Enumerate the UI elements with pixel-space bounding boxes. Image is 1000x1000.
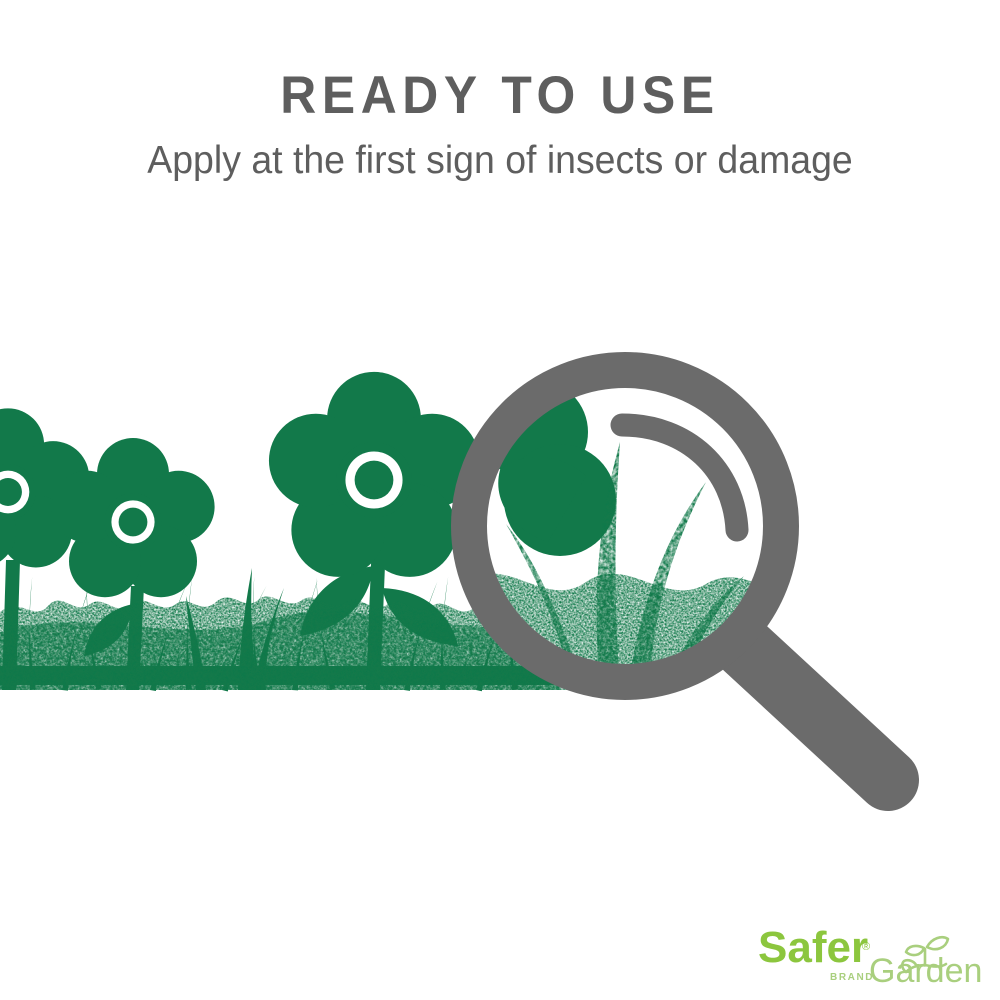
logo-brand-line: BRAND <box>830 972 874 983</box>
grass-speckle-fringe <box>0 611 560 690</box>
flower-group <box>0 372 479 597</box>
logo-wordmark: Safer <box>758 923 868 972</box>
magnified-turf <box>469 574 781 690</box>
grass-baseline <box>0 666 562 685</box>
flower-stems <box>2 540 458 690</box>
grass-band <box>0 540 568 694</box>
page-subtitle: Apply at the first sign of insects or da… <box>20 124 980 183</box>
magnifier-lens-content <box>469 370 781 690</box>
magnifier-ring <box>469 370 781 682</box>
flower-right <box>269 372 479 577</box>
logo-sub-wordmark: Garden <box>869 952 982 990</box>
magnified-flower-petal <box>484 380 616 556</box>
flower-mid <box>51 438 214 597</box>
poster-canvas: READY TO USE Apply at the first sign of … <box>0 0 1000 1000</box>
grass-turf-texture <box>0 597 568 690</box>
magnifier-handle <box>745 648 888 780</box>
flower-left-clipped <box>0 408 89 567</box>
magnifier-glint-icon <box>622 425 737 530</box>
brand-logo[interactable]: Safer ® BRAND Garden <box>756 918 996 990</box>
grass-blades-tall <box>14 568 529 694</box>
page-title: READY TO USE <box>30 68 970 124</box>
brand-logo-svg: Safer ® BRAND Garden <box>756 918 996 990</box>
magnified-grass-blades <box>486 442 744 686</box>
header-block: READY TO USE Apply at the first sign of … <box>0 68 1000 183</box>
